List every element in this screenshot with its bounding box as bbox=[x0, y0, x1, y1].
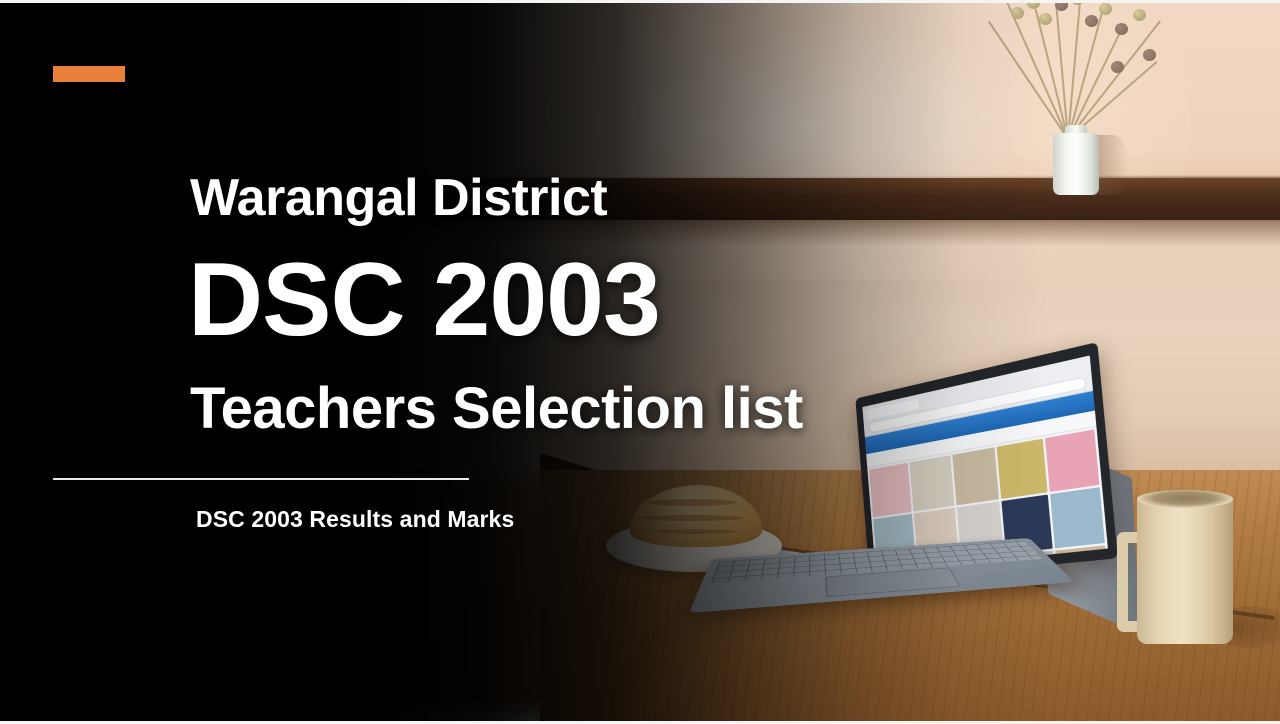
slide-content: Warangal District DSC 2003 Teachers Sele… bbox=[0, 0, 1280, 724]
eyebrow-title: Warangal District bbox=[190, 172, 607, 224]
presentation-slide: Warangal District DSC 2003 Teachers Sele… bbox=[0, 0, 1280, 724]
top-edge-strip bbox=[0, 0, 1280, 3]
caption-text: DSC 2003 Results and Marks bbox=[196, 508, 514, 531]
page-title: DSC 2003 bbox=[188, 248, 660, 352]
divider bbox=[53, 478, 469, 480]
accent-bar bbox=[53, 66, 125, 82]
subtitle: Teachers Selection list bbox=[190, 380, 803, 438]
